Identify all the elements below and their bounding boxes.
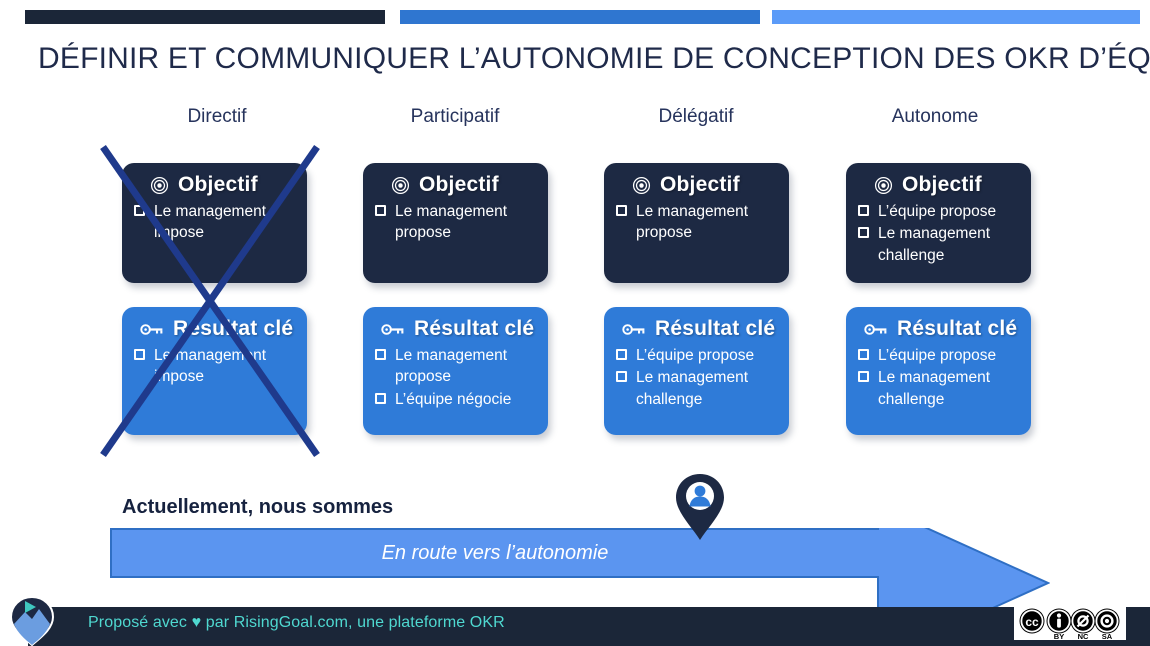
card-key-result-bullets: Le management impose [134,345,295,388]
card-key-result-label: Résultat clé [414,317,534,341]
card-objective-participatif[interactable]: Objectif Le management propose [363,163,548,283]
column-header-delegatif: Délégatif [596,106,796,128]
list-item: Le management propose [375,345,536,388]
checkbox-bullet-icon [858,205,869,216]
key-icon [381,322,405,337]
bullet-text: Le management propose [395,345,536,388]
card-objective-label: Objectif [419,173,499,197]
card-key-result-header: Résultat clé [134,317,295,341]
bullet-text: Le management propose [395,201,536,244]
cc-label-by: BY [1054,632,1064,640]
card-key-result-header: Résultat clé [375,317,536,341]
card-objective-header: Objectif [134,173,295,197]
list-item: L’équipe propose [616,345,777,366]
list-item: L’équipe négocie [375,389,536,410]
map-pin-person-icon [672,472,728,542]
checkbox-bullet-icon [858,371,869,382]
card-objective-header: Objectif [375,173,536,197]
card-key-result-delegatif[interactable]: Résultat clé L’équipe propose Le managem… [604,307,789,435]
checkbox-bullet-icon [375,393,386,404]
bullet-text: Le management impose [154,345,295,388]
target-icon [391,176,410,195]
card-objective-delegatif[interactable]: Objectif Le management propose [604,163,789,283]
card-objective-label: Objectif [902,173,982,197]
column-header-directif: Directif [117,106,317,128]
bullet-text: L’équipe propose [878,201,996,222]
list-item: Le management impose [134,345,295,388]
list-item: L’équipe propose [858,201,1019,222]
bullet-text: L’équipe propose [878,345,996,366]
card-key-result-directif[interactable]: Résultat clé Le management impose [122,307,307,435]
page-title: DÉFINIR ET COMMUNIQUER L’AUTONOMIE DE CO… [38,42,1128,76]
checkbox-bullet-icon [616,349,627,360]
card-objective-directif[interactable]: Objectif Le management impose [122,163,307,283]
target-icon [150,176,169,195]
risinggoal-pin-logo [8,596,56,646]
checkbox-bullet-icon [375,349,386,360]
column-header-autonome: Autonome [835,106,1035,128]
target-icon [874,176,893,195]
list-item: Le management propose [375,201,536,244]
card-key-result-bullets: L’équipe propose Le management challenge [858,345,1019,410]
bullet-text: Le management challenge [878,367,1019,410]
checkbox-bullet-icon [858,227,869,238]
bullet-text: L’équipe propose [636,345,754,366]
card-key-result-autonome[interactable]: Résultat clé L’équipe propose Le managem… [846,307,1031,435]
key-icon [864,322,888,337]
card-key-result-label: Résultat clé [173,317,293,341]
column-header-participatif: Participatif [355,106,555,128]
checkbox-bullet-icon [375,205,386,216]
creative-commons-by-nc-sa-badge[interactable]: cc BY NC SA [1014,606,1126,640]
card-key-result-header: Résultat clé [616,317,777,341]
list-item: Le management propose [616,201,777,244]
list-item: Le management challenge [858,367,1019,410]
bullet-text: Le management challenge [878,223,1019,266]
checkbox-bullet-icon [616,371,627,382]
card-objective-header: Objectif [858,173,1019,197]
card-key-result-bullets: Le management propose L’équipe négocie [375,345,536,410]
key-icon [622,322,646,337]
list-item: Le management impose [134,201,295,244]
list-item: Le management challenge [616,367,777,410]
list-item: Le management challenge [858,223,1019,266]
card-objective-bullets: Le management propose [375,201,536,244]
list-item: L’équipe propose [858,345,1019,366]
arrow-label: En route vers l’autonomie [110,528,1050,578]
card-objective-bullets: Le management propose [616,201,777,244]
svg-text:cc: cc [1025,615,1039,629]
current-state-label: Actuellement, nous sommes [122,496,393,519]
cc-label-sa: SA [1102,632,1113,640]
target-icon [632,176,651,195]
card-objective-bullets: L’équipe propose Le management challenge [858,201,1019,266]
card-objective-label: Objectif [178,173,258,197]
card-key-result-bullets: L’équipe propose Le management challenge [616,345,777,410]
bullet-text: L’équipe négocie [395,389,511,410]
checkbox-bullet-icon [134,205,145,216]
checkbox-bullet-icon [616,205,627,216]
cc-label-nc: NC [1078,632,1089,640]
card-objective-autonome[interactable]: Objectif L’équipe propose Le management … [846,163,1031,283]
top-bar-segment-blue [400,10,760,24]
card-key-result-participatif[interactable]: Résultat clé Le management propose L’équ… [363,307,548,435]
bullet-text: Le management impose [154,201,295,244]
card-objective-bullets: Le management impose [134,201,295,244]
checkbox-bullet-icon [134,349,145,360]
card-key-result-label: Résultat clé [897,317,1017,341]
footer-credit-text: Proposé avec ♥ par RisingGoal.com, une p… [88,614,505,632]
card-key-result-header: Résultat clé [858,317,1019,341]
bullet-text: Le management challenge [636,367,777,410]
top-bar-segment-light-blue [772,10,1140,24]
slide-root: DÉFINIR ET COMMUNIQUER L’AUTONOMIE DE CO… [0,0,1150,646]
card-objective-label: Objectif [660,173,740,197]
top-bar-segment-dark [25,10,385,24]
key-icon [140,322,164,337]
bullet-text: Le management propose [636,201,777,244]
checkbox-bullet-icon [858,349,869,360]
card-objective-header: Objectif [616,173,777,197]
card-key-result-label: Résultat clé [655,317,775,341]
